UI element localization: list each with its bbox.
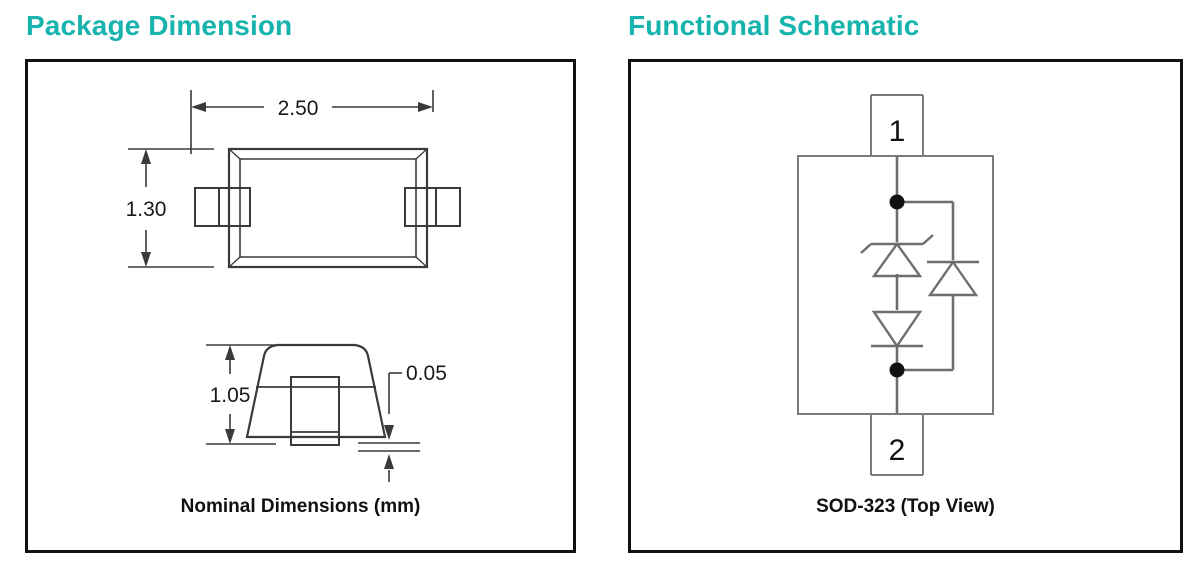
package-caption: Nominal Dimensions (mm) [28,496,573,518]
junction-dot-top [890,195,905,210]
dimension-value-height: 1.30 [126,198,167,221]
dimension-value-standoff: 0.05 [406,362,447,385]
junction-dot-bottom [890,363,905,378]
functional-schematic-panel: 1 2 SOD-323 (Top View) [628,59,1183,553]
pin-number-1: 1 [889,115,906,148]
functional-schematic-drawing: 1 2 [631,62,1180,492]
dimension-value-body-height: 1.05 [210,384,251,407]
dimension-value-width: 2.50 [278,97,319,120]
schematic-wires [897,156,953,414]
pin-number-2: 2 [889,434,906,467]
functional-schematic-title: Functional Schematic [628,10,919,42]
diode-series [871,312,923,346]
package-dimension-title: Package Dimension [26,10,292,42]
schematic-caption: SOD-323 (Top View) [631,496,1180,518]
package-dimension-drawing: 2.50 1.30 [28,62,573,492]
package-dimension-panel: 2.50 1.30 [25,59,576,553]
package-side-view [206,345,420,482]
diode-parallel [927,262,979,295]
